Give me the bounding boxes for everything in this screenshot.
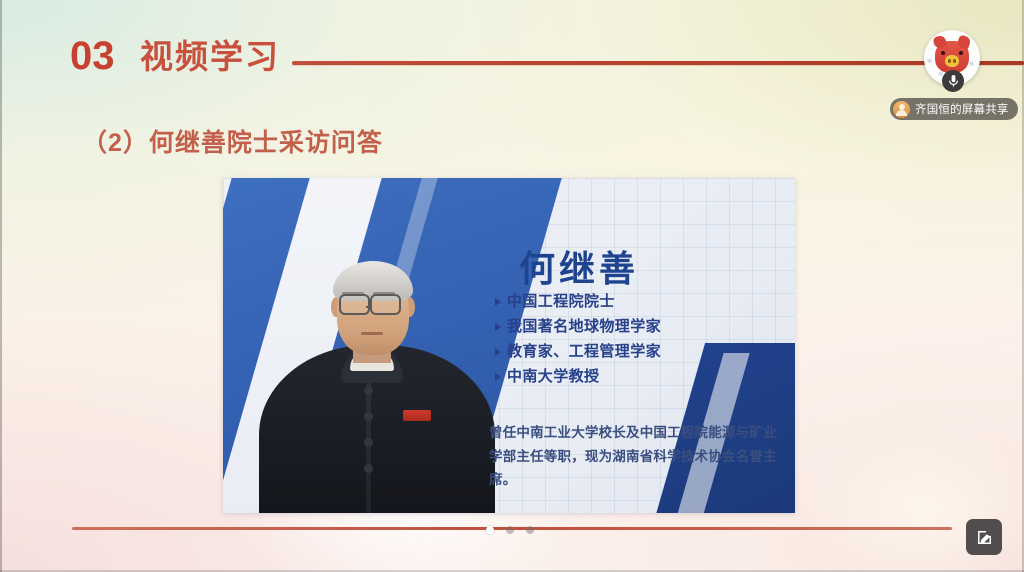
portrait-photo <box>253 213 503 513</box>
pig-ear-right <box>956 34 971 49</box>
credential-text: 中国工程院院士 <box>507 293 615 311</box>
credential-text: 我国著名地球物理学家 <box>507 318 661 336</box>
portrait-suit-button <box>364 464 373 473</box>
pagination-dot[interactable] <box>526 526 534 534</box>
subheading: （2）何继善院士采访问答 <box>82 123 383 159</box>
list-item: 中国工程院院士 <box>495 293 755 311</box>
portrait-lapel-badge <box>403 410 431 421</box>
pig-avatar-icon <box>935 41 969 73</box>
screen-share-slide: 03 视频学习 （2）何继善院士采访问答 <box>0 0 1024 572</box>
pig-eye-right <box>959 51 963 55</box>
pagination-dot[interactable] <box>506 526 514 534</box>
section-number: 03 <box>70 36 115 76</box>
bullet-triangle-icon <box>495 348 501 356</box>
screen-share-badge: 齐国恒的屏幕共享 <box>890 98 1018 120</box>
portrait-glasses-bridge <box>366 306 372 308</box>
credentials-list: 中国工程院院士 我国著名地球物理学家 教育家、工程管理学家 中南大学教授 <box>495 293 755 393</box>
frame-edge-left <box>0 0 2 572</box>
screen-share-label: 齐国恒的屏幕共享 <box>915 101 1009 117</box>
annotate-button[interactable] <box>966 519 1002 555</box>
pig-ear-left <box>932 34 947 49</box>
biography-text: 曾任中南工业大学校长及中国工程院能源与矿业学部主任等职，现为湖南省科学技术协会名… <box>489 421 779 492</box>
portrait-suit-button <box>364 386 373 395</box>
portrait-suit-button <box>364 438 373 447</box>
list-item: 我国著名地球物理学家 <box>495 318 755 336</box>
microphone-icon[interactable] <box>942 70 964 92</box>
pagination-dots[interactable] <box>486 526 534 534</box>
bullet-triangle-icon <box>495 323 501 331</box>
user-avatar-icon <box>893 101 910 118</box>
slide-header: 03 视频学习 <box>0 36 1024 94</box>
list-item: 教育家、工程管理学家 <box>495 343 755 361</box>
person-name: 何继善 <box>519 240 639 292</box>
bullet-triangle-icon <box>495 373 501 381</box>
portrait-glasses-left <box>339 294 370 315</box>
portrait-suit-button <box>364 412 373 421</box>
credential-text: 中南大学教授 <box>507 368 599 386</box>
credential-text: 教育家、工程管理学家 <box>507 343 661 361</box>
list-item: 中南大学教授 <box>495 368 755 386</box>
video-card[interactable]: 何继善 中国工程院院士 我国著名地球物理学家 教育家、工程管理学家 中南大学教授… <box>223 178 795 513</box>
presenter-avatar[interactable] <box>924 30 980 86</box>
pagination-dot-active[interactable] <box>486 526 494 534</box>
portrait-glasses-right <box>370 294 401 315</box>
section-title: 视频学习 <box>140 40 280 75</box>
portrait-mouth <box>361 332 383 335</box>
header-divider-line <box>292 61 1024 65</box>
bullet-triangle-icon <box>495 298 501 306</box>
pig-snout <box>945 55 959 67</box>
pig-eye-left <box>941 51 945 55</box>
